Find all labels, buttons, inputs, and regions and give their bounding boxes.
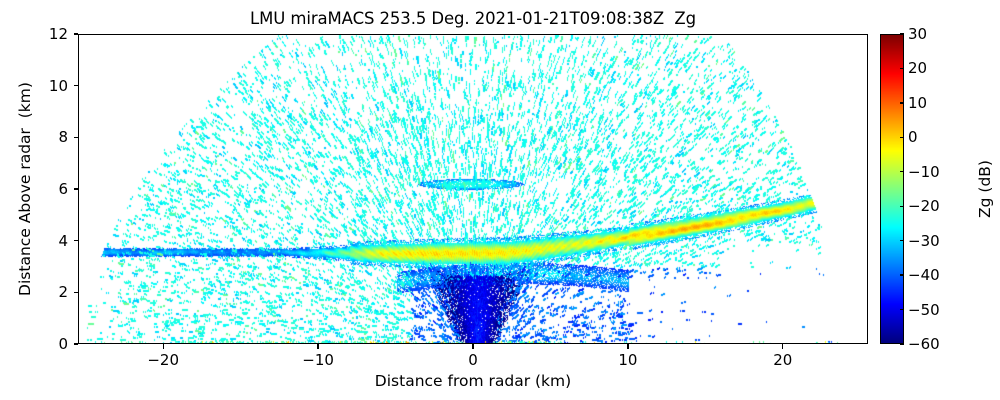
x-tick bbox=[782, 344, 783, 349]
x-tick-label: 20 bbox=[773, 351, 792, 369]
x-tick bbox=[627, 344, 628, 349]
x-tick-label: 10 bbox=[618, 351, 637, 369]
colorbar-tick bbox=[900, 68, 905, 69]
colorbar bbox=[880, 34, 904, 344]
x-tick-label: −10 bbox=[302, 351, 334, 369]
colorbar-gradient bbox=[881, 35, 903, 343]
y-axis-label: Distance Above radar (km) bbox=[14, 34, 36, 344]
colorbar-label: Zg (dB) bbox=[975, 34, 995, 344]
colorbar-tick-label: −50 bbox=[908, 301, 940, 319]
colorbar-tick-label: −40 bbox=[908, 266, 940, 284]
y-tick-label: 6 bbox=[68, 180, 78, 198]
x-tick-label: −20 bbox=[147, 351, 179, 369]
x-tick-label: 0 bbox=[468, 351, 478, 369]
colorbar-tick-label: −10 bbox=[908, 163, 940, 181]
colorbar-tick-label: −60 bbox=[908, 335, 940, 353]
colorbar-tick-label: −30 bbox=[908, 232, 940, 250]
colorbar-tick bbox=[900, 33, 905, 34]
figure-canvas: LMU miraMACS 253.5 Deg. 2021-01-21T09:08… bbox=[0, 0, 1000, 400]
colorbar-tick bbox=[900, 343, 905, 344]
plot-axes bbox=[78, 34, 868, 344]
y-tick-label: 12 bbox=[68, 25, 87, 43]
y-tick-label: 10 bbox=[68, 77, 87, 95]
y-tick-label: 2 bbox=[68, 283, 78, 301]
x-axis-label: Distance from radar (km) bbox=[78, 372, 868, 390]
colorbar-tick bbox=[900, 274, 905, 275]
colorbar-tick bbox=[900, 102, 905, 103]
colorbar-tick-label: 20 bbox=[908, 59, 927, 77]
colorbar-tick bbox=[900, 309, 905, 310]
x-tick bbox=[472, 344, 473, 349]
colorbar-tick bbox=[900, 206, 905, 207]
colorbar-tick-label: −20 bbox=[908, 197, 940, 215]
x-tick bbox=[163, 344, 164, 349]
y-tick-label: 4 bbox=[68, 232, 78, 250]
colorbar-tick-label: 30 bbox=[908, 25, 927, 43]
colorbar-tick-label: 0 bbox=[908, 128, 918, 146]
colorbar-tick bbox=[900, 240, 905, 241]
y-tick-label: 0 bbox=[68, 335, 78, 353]
colorbar-tick bbox=[900, 171, 905, 172]
radar-rhi-image bbox=[79, 35, 868, 344]
colorbar-tick-label: 10 bbox=[908, 94, 927, 112]
y-tick-label: 8 bbox=[68, 128, 78, 146]
x-tick bbox=[317, 344, 318, 349]
colorbar-tick bbox=[900, 137, 905, 138]
plot-title: LMU miraMACS 253.5 Deg. 2021-01-21T09:08… bbox=[78, 9, 868, 28]
